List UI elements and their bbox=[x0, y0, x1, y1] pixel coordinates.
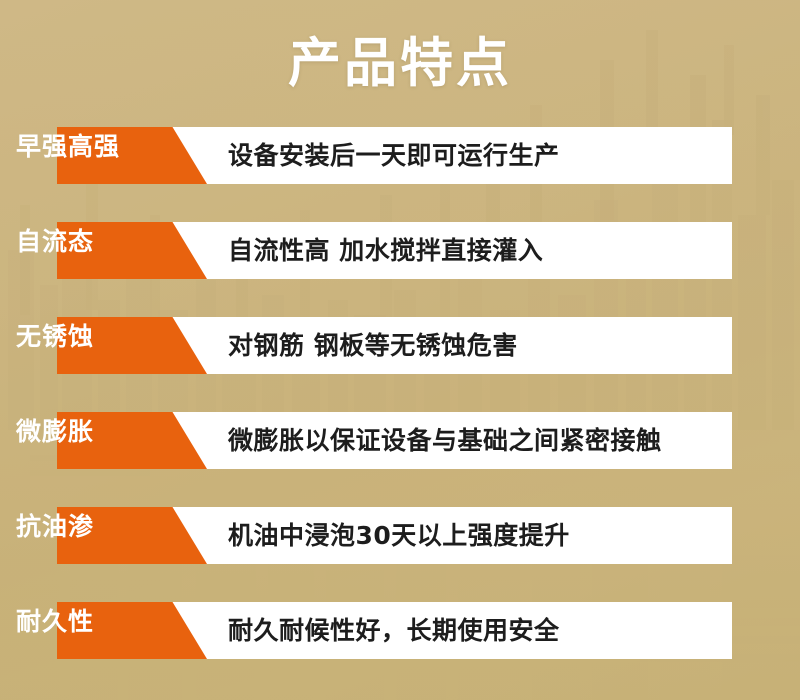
list-item: 早强高强 设备安装后一天即可运行生产 bbox=[0, 118, 800, 213]
list-item: 耐久性 耐久耐候性好，长期使用安全 bbox=[0, 593, 800, 688]
feature-description: 机油中浸泡30天以上强度提升 bbox=[228, 507, 570, 564]
list-item: 微膨胀 微膨胀以保证设备与基础之间紧密接触 bbox=[0, 403, 800, 498]
product-features-poster: 产品特点 早强高强 设备安装后一天即可运行生产 自流态 自流性高 加水搅拌直接灌… bbox=[0, 0, 800, 700]
feature-description: 对钢筋 钢板等无锈蚀危害 bbox=[228, 317, 518, 374]
feature-tag-label: 无锈蚀 bbox=[16, 308, 94, 365]
feature-description: 耐久耐候性好，长期使用安全 bbox=[228, 602, 560, 659]
feature-description: 设备安装后一天即可运行生产 bbox=[228, 127, 560, 184]
feature-tag-label: 自流态 bbox=[16, 213, 94, 270]
list-item: 抗油渗 机油中浸泡30天以上强度提升 bbox=[0, 498, 800, 593]
feature-description: 微膨胀以保证设备与基础之间紧密接触 bbox=[228, 412, 662, 469]
feature-tag-label: 耐久性 bbox=[16, 593, 94, 650]
feature-tag-label: 早强高强 bbox=[16, 118, 120, 175]
page-title: 产品特点 bbox=[0, 33, 800, 95]
feature-tag-label: 微膨胀 bbox=[16, 403, 94, 460]
list-item: 无锈蚀 对钢筋 钢板等无锈蚀危害 bbox=[0, 308, 800, 403]
feature-list: 早强高强 设备安装后一天即可运行生产 自流态 自流性高 加水搅拌直接灌入 无锈蚀… bbox=[0, 118, 800, 688]
list-item: 自流态 自流性高 加水搅拌直接灌入 bbox=[0, 213, 800, 308]
feature-tag-label: 抗油渗 bbox=[16, 498, 94, 555]
feature-description: 自流性高 加水搅拌直接灌入 bbox=[228, 222, 543, 279]
